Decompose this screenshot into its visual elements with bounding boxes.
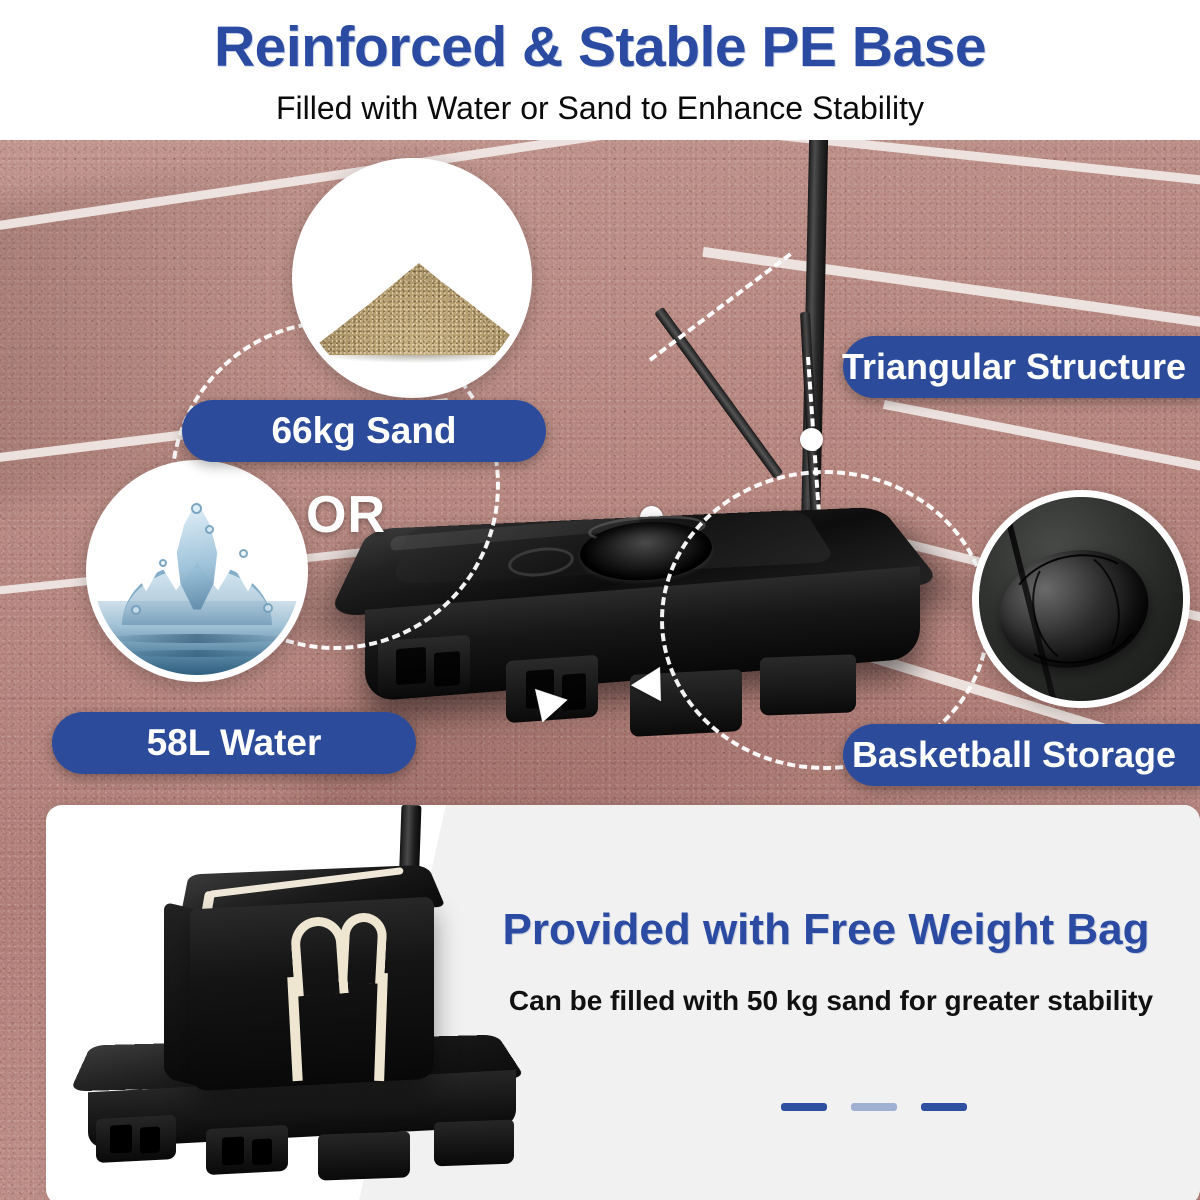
weight-bag-handle bbox=[338, 912, 388, 984]
base-notch bbox=[110, 1124, 132, 1153]
product-infographic: Reinforced & Stable PE Base Filled with … bbox=[0, 0, 1200, 1200]
base-notch bbox=[562, 673, 586, 711]
base-notch bbox=[434, 651, 460, 687]
base-foot bbox=[434, 1120, 514, 1167]
page-title: Reinforced & Stable PE Base bbox=[0, 14, 1200, 80]
base-foot bbox=[96, 1115, 176, 1163]
water-droplet bbox=[191, 503, 202, 514]
badge-basketball-storage[interactable]: Basketball Storage bbox=[843, 724, 1200, 786]
base-notch bbox=[140, 1126, 160, 1153]
weight-bag-subtext: Can be filled with 50 kg sand for greate… bbox=[466, 985, 1196, 1017]
base-notch bbox=[252, 1138, 272, 1165]
header-band: Reinforced & Stable PE Base Filled with … bbox=[0, 0, 1200, 140]
carousel-dot-3[interactable] bbox=[921, 1103, 967, 1111]
base-notch bbox=[222, 1136, 244, 1165]
badge-triangular-structure[interactable]: Triangular Structure bbox=[843, 336, 1200, 398]
weight-bag-card: Provided with Free Weight Bag Can be fil… bbox=[46, 805, 1200, 1200]
base-foot bbox=[318, 1131, 410, 1180]
page-subtitle: Filled with Water or Sand to Enhance Sta… bbox=[0, 90, 1200, 127]
water-droplet bbox=[131, 605, 141, 615]
water-droplet bbox=[263, 603, 273, 613]
carousel-indicator[interactable] bbox=[781, 1103, 967, 1111]
badge-sand-capacity[interactable]: 66kg Sand bbox=[182, 400, 546, 462]
water-droplet bbox=[159, 559, 167, 567]
weight-bag-photo bbox=[164, 855, 464, 1085]
badge-water-capacity[interactable]: 58L Water bbox=[52, 712, 416, 774]
or-separator-label: OR bbox=[306, 485, 386, 545]
water-splash-photo bbox=[86, 460, 308, 682]
carousel-dot-1[interactable] bbox=[781, 1103, 827, 1111]
sand-pile-photo bbox=[292, 158, 532, 398]
sand-grain-texture bbox=[303, 243, 532, 355]
carousel-dot-2[interactable] bbox=[851, 1103, 897, 1111]
water-ripple bbox=[105, 634, 288, 643]
weight-bag-heading: Provided with Free Weight Bag bbox=[466, 905, 1186, 955]
basketball-storage-photo bbox=[972, 490, 1190, 708]
water-droplet bbox=[205, 525, 214, 534]
base-foot bbox=[206, 1125, 288, 1175]
water-droplet bbox=[239, 549, 248, 558]
base-notch bbox=[396, 647, 426, 685]
photo-stage: OR 66kg Sand 58L Water Triangular Struct… bbox=[0, 140, 1200, 1200]
triangle-vertex-dot bbox=[800, 428, 823, 451]
water-ripple bbox=[122, 650, 272, 657]
